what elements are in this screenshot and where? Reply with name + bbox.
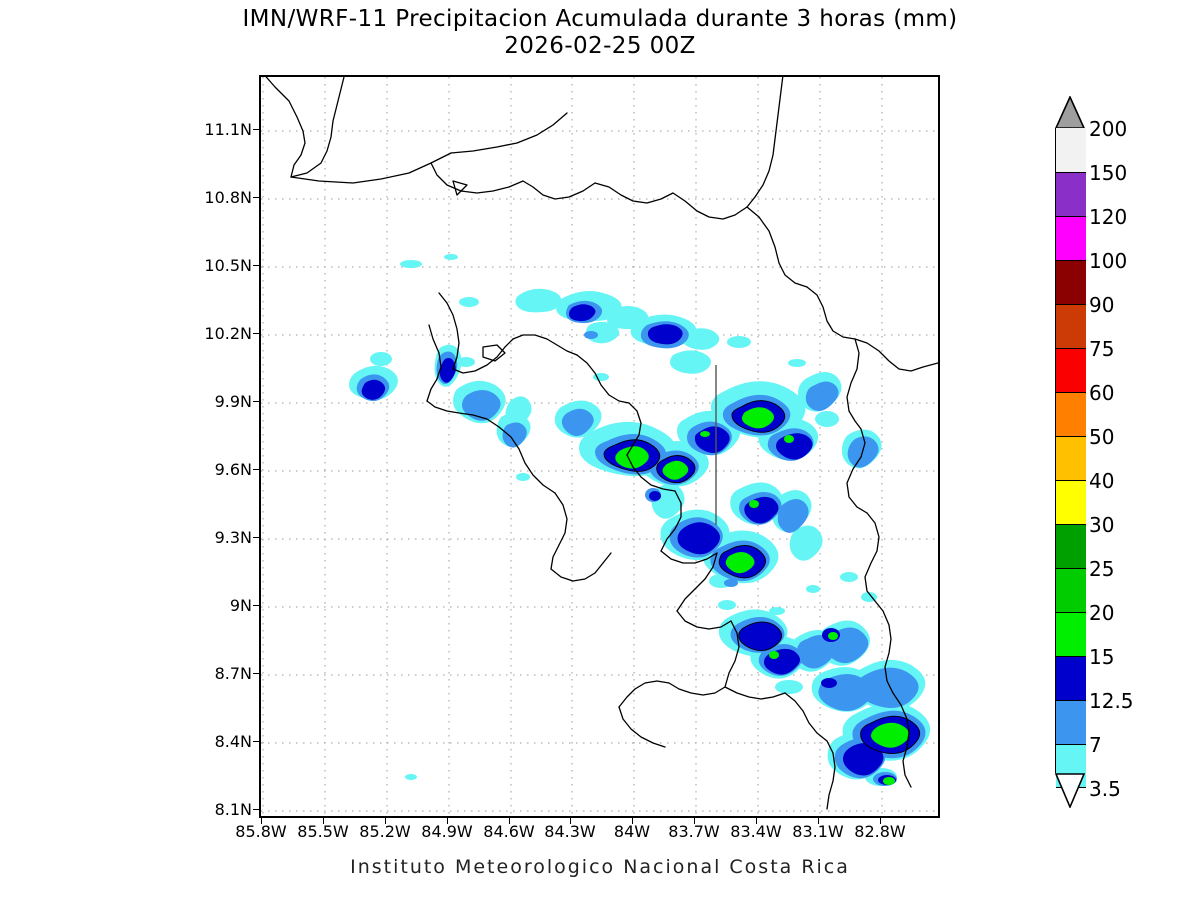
colorbar-band-90-100 <box>1056 260 1086 304</box>
colorbar-band-75-90 <box>1056 304 1086 348</box>
precipitation-map <box>261 77 938 816</box>
colorbar-tick-label: 200 <box>1089 117 1127 141</box>
colorbar-band-12p5-15 <box>1056 656 1086 700</box>
colorbar-tick-label: 90 <box>1089 293 1114 317</box>
footer-attribution: Instituto Meteorologico Nacional Costa R… <box>0 856 1200 878</box>
chart-title-block: IMN/WRF-11 Precipitacion Acumulada duran… <box>0 6 1200 60</box>
colorbar-band-25-30 <box>1056 524 1086 568</box>
colorbar-tick-label: 15 <box>1089 645 1114 669</box>
colorbar-tick-label: 150 <box>1089 161 1127 185</box>
colorbar-band-150-200 <box>1056 128 1086 172</box>
colorbar-tick-label: 3.5 <box>1089 777 1121 801</box>
colorbar-band-7-12p5 <box>1056 700 1086 744</box>
colorbar-band-30-40 <box>1056 480 1086 524</box>
map-plot-area <box>259 75 940 818</box>
colorbar <box>1055 96 1087 808</box>
y-tick-label: 8.7N <box>188 664 252 683</box>
y-tick-label: 8.1N <box>188 800 252 819</box>
colorbar-overflow-arrow-up <box>1055 96 1085 129</box>
colorbar-band-40-50 <box>1056 436 1086 480</box>
colorbar-tick-label: 100 <box>1089 249 1127 273</box>
colorbar-tick-label: 40 <box>1089 469 1114 493</box>
x-axis-labels: 85.8W 85.5W 85.2W 84.9W 84.6W 84.3W 84W … <box>259 822 940 846</box>
page-title: IMN/WRF-11 Precipitacion Acumulada duran… <box>0 6 1200 33</box>
colorbar-band-60-75 <box>1056 348 1086 392</box>
colorbar-band-50-60 <box>1056 392 1086 436</box>
y-tick-label: 10.2N <box>188 324 252 343</box>
colorbar-band-120-150 <box>1056 172 1086 216</box>
colorbar-band-15-20 <box>1056 612 1086 656</box>
chart-subtitle: 2026-02-25 00Z <box>0 33 1200 60</box>
colorbar-labels: 200 150 120 100 90 75 60 50 40 30 25 20 … <box>1089 96 1189 808</box>
colorbar-tick-label: 30 <box>1089 513 1114 537</box>
colorbar-tick-label: 25 <box>1089 557 1114 581</box>
x-tick-label: 82.8W <box>840 822 920 841</box>
colorbar-tick-label: 20 <box>1089 601 1114 625</box>
colorbar-tick-label: 7 <box>1089 733 1102 757</box>
y-tick-label: 10.5N <box>188 256 252 275</box>
colorbar-tick-label: 50 <box>1089 425 1114 449</box>
colorbar-tick-label: 60 <box>1089 381 1114 405</box>
y-tick-label: 9.3N <box>188 528 252 547</box>
y-tick-label: 9.9N <box>188 392 252 411</box>
y-tick-label: 9N <box>188 596 252 615</box>
colorbar-tick-label: 12.5 <box>1089 689 1134 713</box>
colorbar-tick-label: 75 <box>1089 337 1114 361</box>
y-axis-labels: 11.1N 10.8N 10.5N 10.2N 9.9N 9.6N 9.3N 9… <box>186 75 252 818</box>
colorbar-band-20-25 <box>1056 568 1086 612</box>
colorbar-tick-label: 120 <box>1089 205 1127 229</box>
colorbar-band-100-120 <box>1056 216 1086 260</box>
colorbar-bands <box>1055 128 1085 773</box>
y-tick-label: 11.1N <box>188 120 252 139</box>
y-tick-label: 8.4N <box>188 732 252 751</box>
colorbar-overflow-arrow-down <box>1055 772 1085 808</box>
y-tick-label: 9.6N <box>188 460 252 479</box>
y-tick-label: 10.8N <box>188 188 252 207</box>
